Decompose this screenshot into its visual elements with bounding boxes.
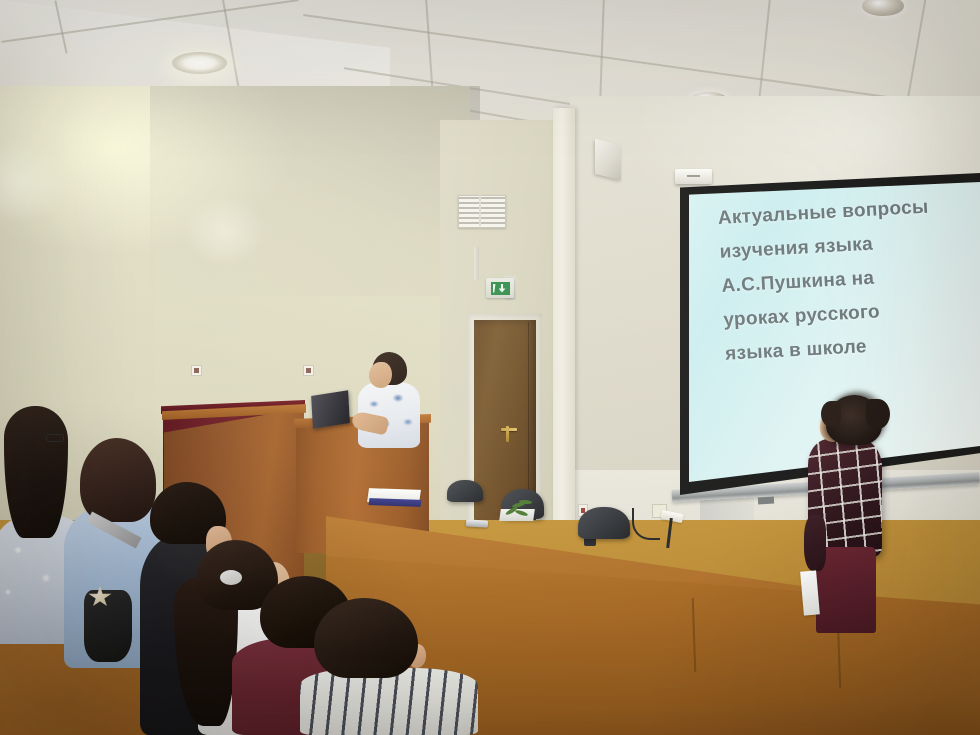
ceiling-downlight <box>862 0 904 16</box>
wall-shadow <box>150 86 480 296</box>
audience-hair <box>4 406 68 538</box>
audience-member-6 <box>300 598 480 735</box>
small-plant <box>503 499 533 517</box>
door-handle-icon[interactable] <box>501 428 517 431</box>
handbag <box>84 590 132 662</box>
presenter-face <box>369 362 392 388</box>
presenter-at-podium <box>352 352 438 448</box>
office-chair[interactable] <box>447 480 483 502</box>
emergency-exit-sign <box>486 278 514 298</box>
wall-pillar <box>553 108 575 578</box>
laptop-icon[interactable] <box>311 390 350 429</box>
wall-speaker-icon <box>595 139 621 180</box>
slide-title-text: Актуальные вопросы изучения языка А.С.Пу… <box>717 188 976 371</box>
exit-icon <box>491 282 510 295</box>
audience-torso <box>300 668 478 735</box>
ceiling-downlight <box>172 52 227 74</box>
lecture-hall-photo: Актуальные вопросы изучения языка А.С.Пу… <box>0 0 980 735</box>
rail-clip <box>758 497 774 505</box>
standing-woman-hair <box>826 395 882 445</box>
audience-hair <box>314 598 418 678</box>
ceiling-air-vent <box>458 195 506 228</box>
screen-roller-housing[interactable] <box>675 169 712 184</box>
wall-conduit <box>474 247 479 280</box>
vent-divider <box>479 195 481 226</box>
wall-socket-plate[interactable] <box>303 365 314 376</box>
wall-socket-plate[interactable] <box>191 365 202 376</box>
standing-woman-arm <box>804 515 826 571</box>
office-chair[interactable] <box>578 507 630 539</box>
presentation-remote[interactable] <box>466 519 488 527</box>
door-handle-shaft[interactable] <box>506 426 509 442</box>
standing-woman-right <box>800 395 900 650</box>
